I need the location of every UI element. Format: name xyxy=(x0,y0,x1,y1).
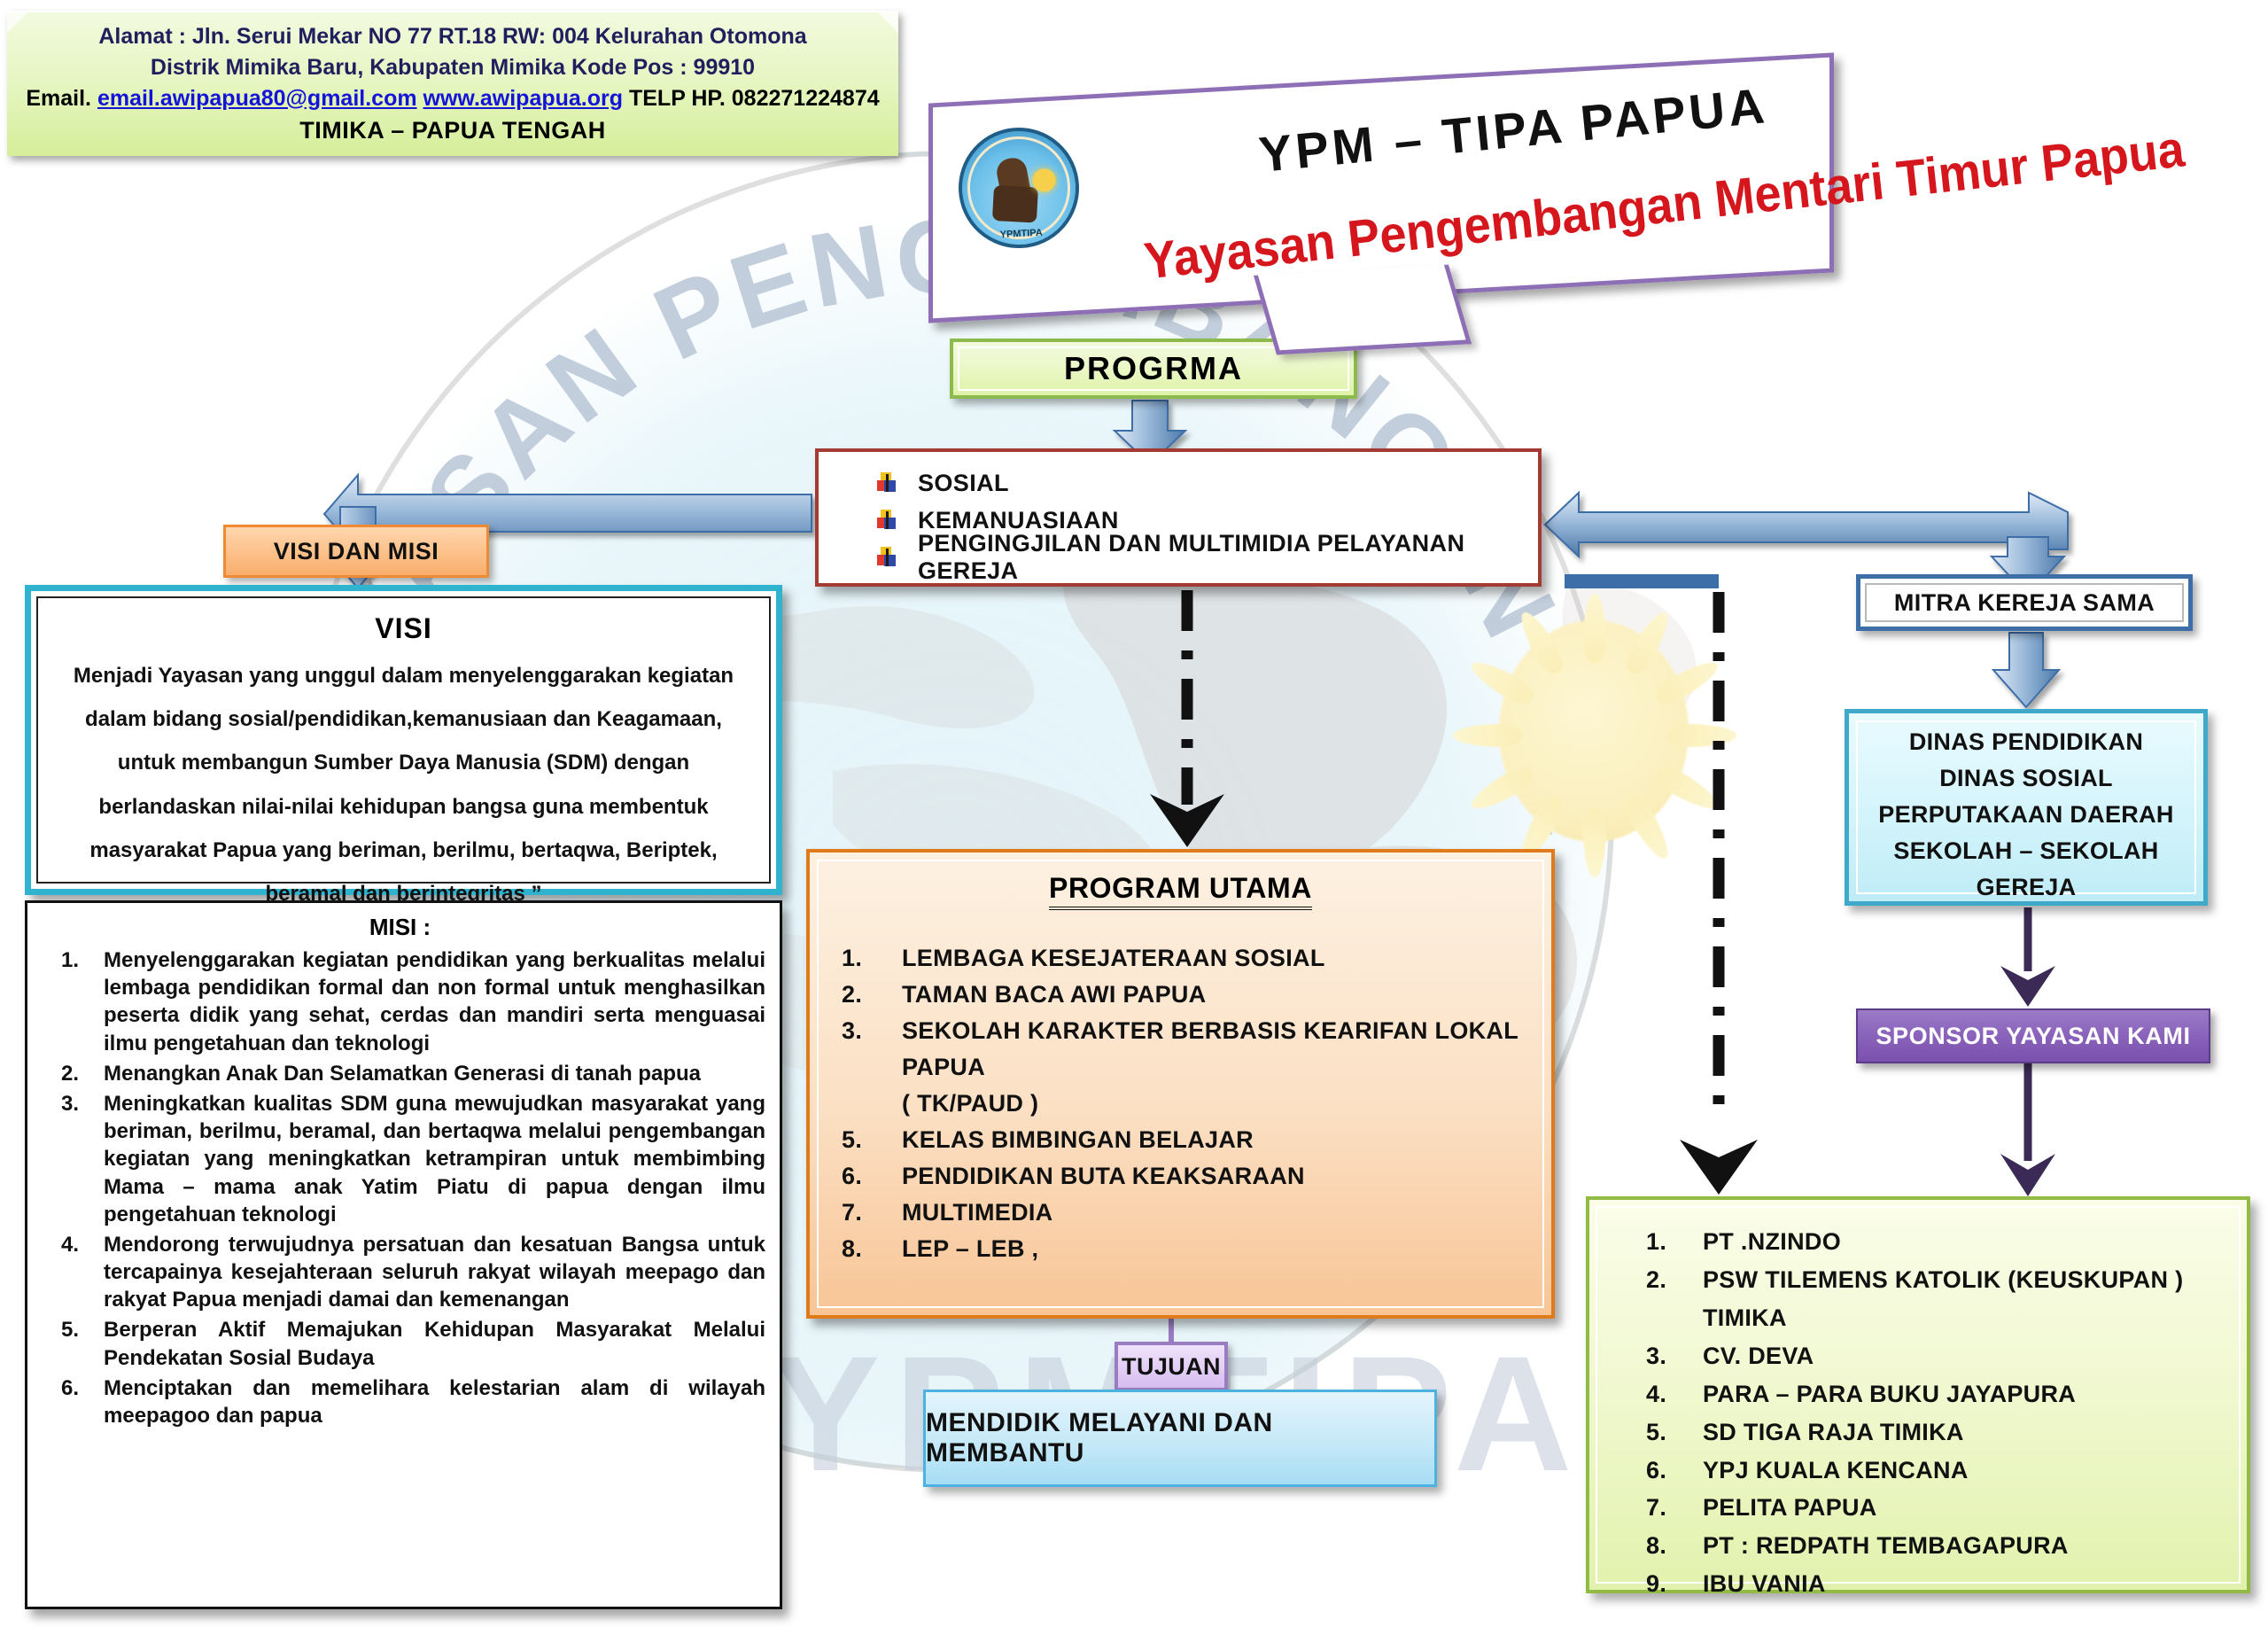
address-line-1: Alamat : Jln. Serui Mekar NO 77 RT.18 RW… xyxy=(26,21,879,52)
list-item: TAMAN BACA AWI PAPUA xyxy=(902,977,1551,1013)
mitra-label: MITRA KEREJA SAMA xyxy=(1894,589,2155,617)
email-label: Email. xyxy=(26,86,91,111)
visi-misi-tab-label: VISI DAN MISI xyxy=(274,538,439,565)
mitra-partners-list: DINAS PENDIDIKAN DINAS SOSIAL PERPUTAKAA… xyxy=(1849,713,2203,906)
tujuan-tab-label: TUJUAN xyxy=(1122,1353,1221,1381)
pinwheel-bullet-icon xyxy=(877,510,898,531)
mitra-partners-box: DINAS PENDIDIKAN DINAS SOSIAL PERPUTAKAA… xyxy=(1845,709,2208,906)
pinwheel-bullet-icon xyxy=(877,472,898,494)
list-item: PSW TILEMENS KATOLIK (KEUSKUPAN ) TIMIKA xyxy=(1703,1261,2247,1337)
title-callout-tail xyxy=(1254,265,1472,355)
program-utama-box: PROGRAM UTAMA LEMBAGA KESEJATERAAN SOSIA… xyxy=(806,849,1555,1319)
list-item: Meningkatkan kualitas SDM guna mewujudka… xyxy=(35,1090,765,1228)
prograrma-label: PROGRMA xyxy=(1064,350,1243,387)
list-item: PENGINGJILAN DAN MULTIMIDIA PELAYANAN GE… xyxy=(877,539,1538,576)
tujuan-text: MENDIDIK MELAYANI DAN MEMBANTU xyxy=(926,1408,1434,1468)
program-areas-list: SOSIAL KEMANUASIAAN PENGINGJILAN DAN MUL… xyxy=(877,464,1538,576)
address-line-2: Distrik Mimika Baru, Kabupaten Mimika Ko… xyxy=(26,52,879,83)
address-line-4: TIMIKA – PAPUA TENGAH xyxy=(26,114,879,148)
phone-label: TELP HP. xyxy=(629,86,726,111)
list-item: Menangkan Anak Dan Selamatkan Generasi d… xyxy=(35,1060,765,1087)
sponsor-header-label: SPONSOR YAYASAN KAMI xyxy=(1876,1023,2190,1050)
tujuan-panel: MENDIDIK MELAYANI DAN MEMBANTU xyxy=(923,1390,1437,1487)
program-area-label: SOSIAL xyxy=(918,470,1009,497)
list-item: KELAS BIMBINGAN BELAJAR xyxy=(902,1122,1551,1158)
list-item: GEREJA xyxy=(1849,869,2203,906)
list-item: PT .NZINDO xyxy=(1703,1223,2247,1261)
visi-title: VISI xyxy=(59,612,748,645)
list-item: IBU VANIA xyxy=(1703,1565,2247,1603)
misi-list: Menyelenggarakan kegiatan pendidikan yan… xyxy=(35,946,765,1429)
list-item: SEKOLAH – SEKOLAH xyxy=(1849,833,2203,869)
list-item: PERPUTAKAAN DAERAH xyxy=(1849,797,2203,833)
visi-misi-tab: VISI DAN MISI xyxy=(223,525,489,578)
infographic-canvas: YAYASAN PENGEMBANGAN MENTARI TIMUR PAPUA… xyxy=(0,0,2268,1635)
misi-title: MISI : xyxy=(35,914,765,941)
list-item: DINAS PENDIDIKAN xyxy=(1849,724,2203,760)
sponsor-list-box: PT .NZINDO PSW TILEMENS KATOLIK (KEUSKUP… xyxy=(1586,1196,2250,1593)
list-item-continuation: ( TK/PAUD ) xyxy=(902,1086,1551,1122)
list-item: PENDIDIKAN BUTA KEAKSARAAN xyxy=(902,1158,1551,1195)
sponsor-list: PT .NZINDO PSW TILEMENS KATOLIK (KEUSKUP… xyxy=(1589,1223,2247,1603)
tujuan-tab: TUJUAN xyxy=(1115,1342,1228,1391)
list-item: LEMBAGA KESEJATERAAN SOSIAL xyxy=(902,940,1551,977)
sun-graphic xyxy=(1444,585,1745,886)
sponsor-header-box: SPONSOR YAYASAN KAMI xyxy=(1856,1008,2210,1063)
list-item: SEKOLAH KARAKTER BERBASIS KEARIFAN LOKAL… xyxy=(902,1013,1551,1086)
arrow-sponsor-to-sponsor-list xyxy=(2000,1063,2055,1196)
program-utama-title-text: PROGRAM UTAMA xyxy=(1049,872,1312,910)
list-item: LEP – LEB , xyxy=(902,1231,1551,1267)
list-item: CV. DEVA xyxy=(1703,1337,2247,1375)
phone-number: 082271224874 xyxy=(732,86,880,111)
list-item: PARA – PARA BUKU JAYAPURA xyxy=(1703,1375,2247,1413)
list-item: SD TIGA RAJA TIMIKA xyxy=(1703,1413,2247,1452)
program-areas-box: SOSIAL KEMANUASIAAN PENGINGJILAN DAN MUL… xyxy=(815,448,1542,587)
pinwheel-bullet-icon xyxy=(877,547,898,568)
title-banner: YPMTIPA YPM – TIPA PAPUA Yayasan Pengemb… xyxy=(928,78,1834,298)
address-box: Alamat : Jln. Serui Mekar NO 77 RT.18 RW… xyxy=(7,11,898,156)
visi-text: Menjadi Yayasan yang unggul dalam menyel… xyxy=(59,654,748,915)
list-item: YPJ KUALA KENCANA xyxy=(1703,1452,2247,1490)
mitra-kereja-sama-box: MITRA KEREJA SAMA xyxy=(1856,574,2193,631)
program-utama-list: LEMBAGA KESEJATERAAN SOSIAL TAMAN BACA A… xyxy=(810,940,1551,1267)
list-item: PELITA PAPUA xyxy=(1703,1489,2247,1527)
misi-panel: MISI : Menyelenggarakan kegiatan pendidi… xyxy=(25,900,782,1609)
list-item: DINAS SOSIAL xyxy=(1849,760,2203,797)
program-utama-title: PROGRAM UTAMA xyxy=(810,853,1551,905)
list-item: Menyelenggarakan kegiatan pendidikan yan… xyxy=(35,946,765,1057)
list-item: Mendorong terwujudnya persatuan dan kesa… xyxy=(35,1231,765,1314)
address-contact-line: Email. email.awipapua80@gmail.com www.aw… xyxy=(26,83,879,114)
email-link[interactable]: email.awipapua80@gmail.com xyxy=(97,86,417,111)
arrow-dinas-to-sponsor xyxy=(2000,907,2055,1007)
list-item: PT : REDPATH TEMBAGAPURA xyxy=(1703,1527,2247,1565)
website-link[interactable]: www.awipapua.org xyxy=(423,86,624,111)
list-item: Berperan Aktif Memajukan Kehidupan Masya… xyxy=(35,1316,765,1371)
program-area-label: PENGINGJILAN DAN MULTIMIDIA PELAYANAN GE… xyxy=(918,530,1538,585)
list-item: MULTIMEDIA xyxy=(902,1195,1551,1231)
list-item: Menciptakan dan memelihara kelestarian a… xyxy=(35,1374,765,1429)
list-item: SOSIAL xyxy=(877,464,1538,502)
visi-panel: VISI Menjadi Yayasan yang unggul dalam m… xyxy=(25,585,782,895)
arrow-mitra-to-dinas xyxy=(1993,633,2059,707)
